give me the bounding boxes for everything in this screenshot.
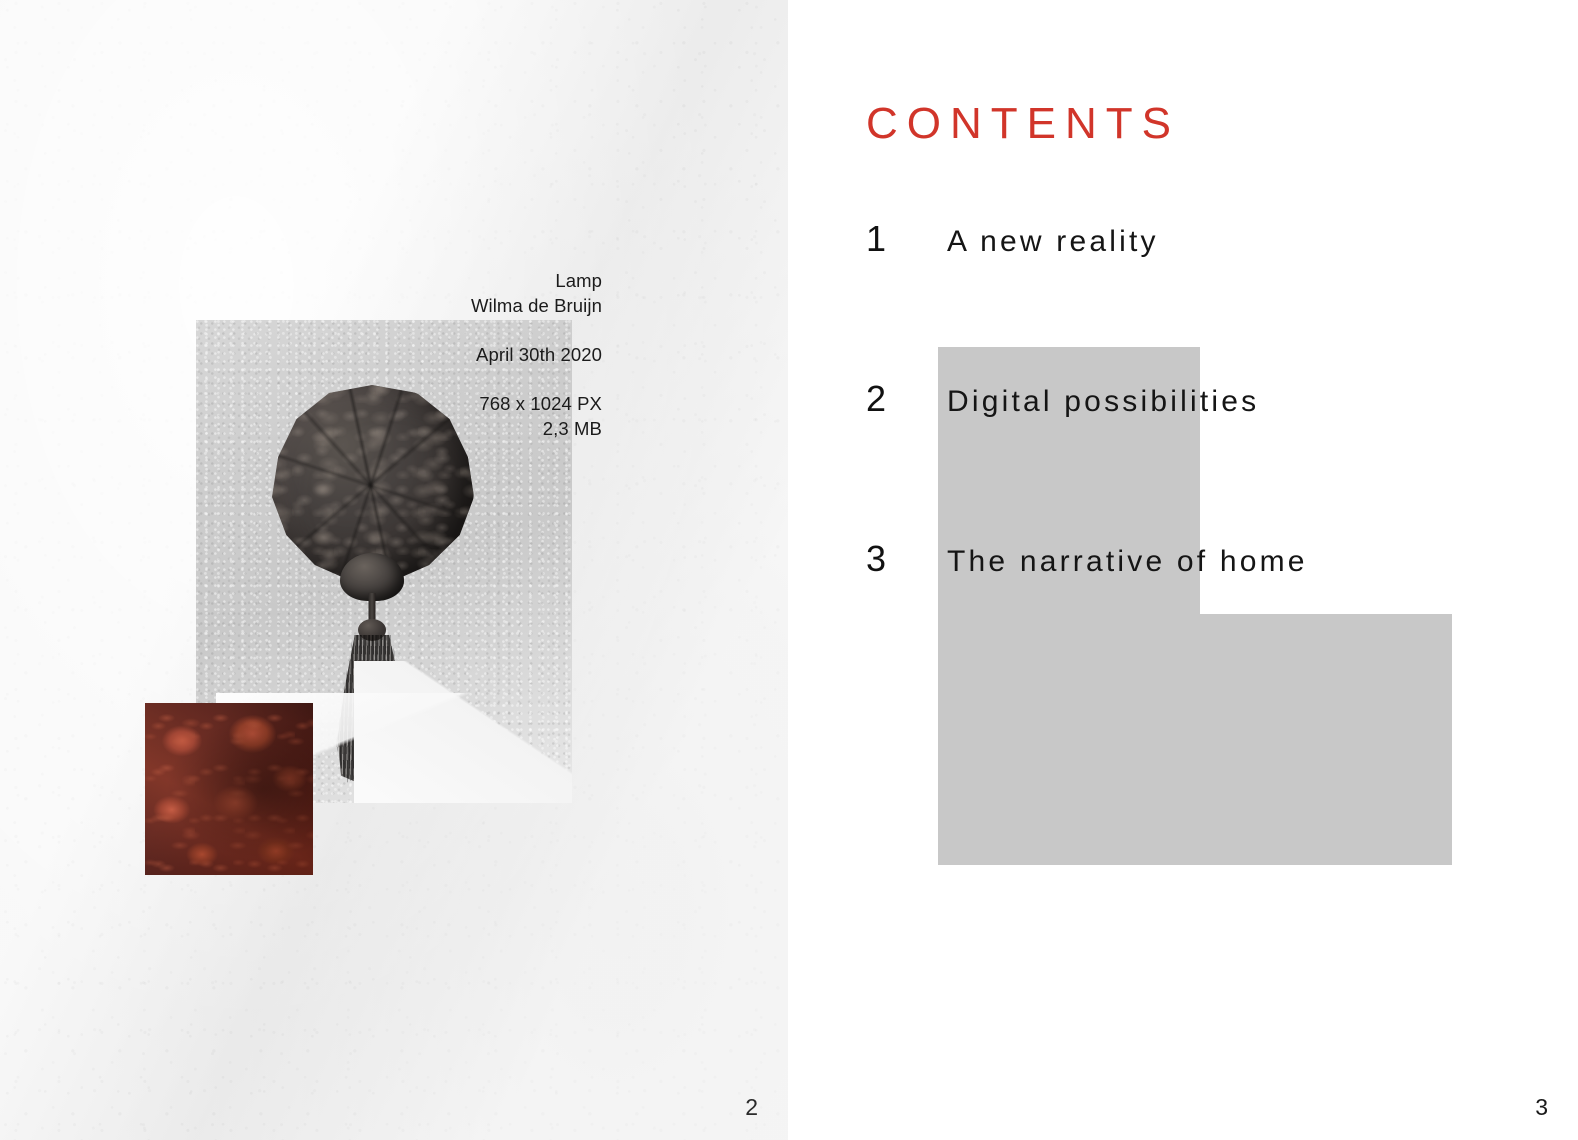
caption-file-group: 768 x 1024 PX 2,3 MB: [302, 391, 602, 441]
photo-caption: Lamp Wilma de Bruijn April 30th 2020 768…: [302, 268, 602, 441]
caption-title-group: Lamp Wilma de Bruijn: [302, 268, 602, 318]
caption-date-group: April 30th 2020: [302, 342, 602, 367]
caption-date: April 30th 2020: [302, 342, 602, 367]
toc-item-2[interactable]: 2 Digital possibilities: [866, 381, 1259, 417]
toc-item-3-number: 3: [866, 541, 947, 577]
toc-item-3-label: The narrative of home: [947, 547, 1308, 577]
toc-item-2-label: Digital possibilities: [947, 387, 1259, 417]
toc-item-3[interactable]: 3 The narrative of home: [866, 541, 1308, 577]
crop-shading-overlay: [145, 703, 313, 875]
caption-title: Lamp: [302, 268, 602, 293]
page-number-right: 3: [1535, 1094, 1548, 1121]
right-page: CONTENTS 1 A new reality 2 Digital possi…: [788, 0, 1578, 1140]
toc-item-2-number: 2: [866, 381, 947, 417]
red-floral-crop: [145, 703, 313, 875]
caption-filesize: 2,3 MB: [302, 416, 602, 441]
caption-dimensions: 768 x 1024 PX: [302, 391, 602, 416]
page-number-left: 2: [745, 1094, 758, 1121]
table-of-contents: 1 A new reality 2 Digital possibilities …: [788, 0, 1578, 1140]
toc-item-1-number: 1: [866, 221, 947, 257]
toc-item-1-label: A new reality: [947, 227, 1159, 257]
toc-item-1[interactable]: 1 A new reality: [866, 221, 1159, 257]
left-page: Lamp Wilma de Bruijn April 30th 2020 768…: [0, 0, 788, 1140]
caption-author: Wilma de Bruijn: [302, 293, 602, 318]
magazine-spread: Lamp Wilma de Bruijn April 30th 2020 768…: [0, 0, 1578, 1140]
